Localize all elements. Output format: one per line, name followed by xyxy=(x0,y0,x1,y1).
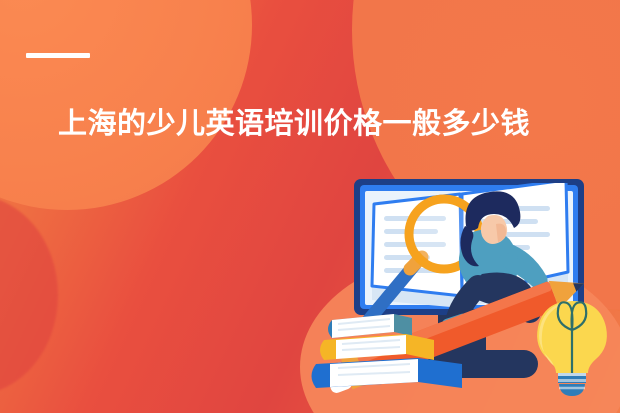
book-teal xyxy=(328,314,412,338)
book-yellow xyxy=(320,334,434,360)
online-learning-illustration xyxy=(310,168,620,413)
promo-banner: 上海的少儿英语培训价格一般多少钱 xyxy=(0,0,620,413)
book-blue xyxy=(312,358,463,388)
page-title: 上海的少儿英语培训价格一般多少钱 xyxy=(58,104,604,144)
lightbulb xyxy=(537,301,607,396)
decorative-rule xyxy=(26,53,90,58)
